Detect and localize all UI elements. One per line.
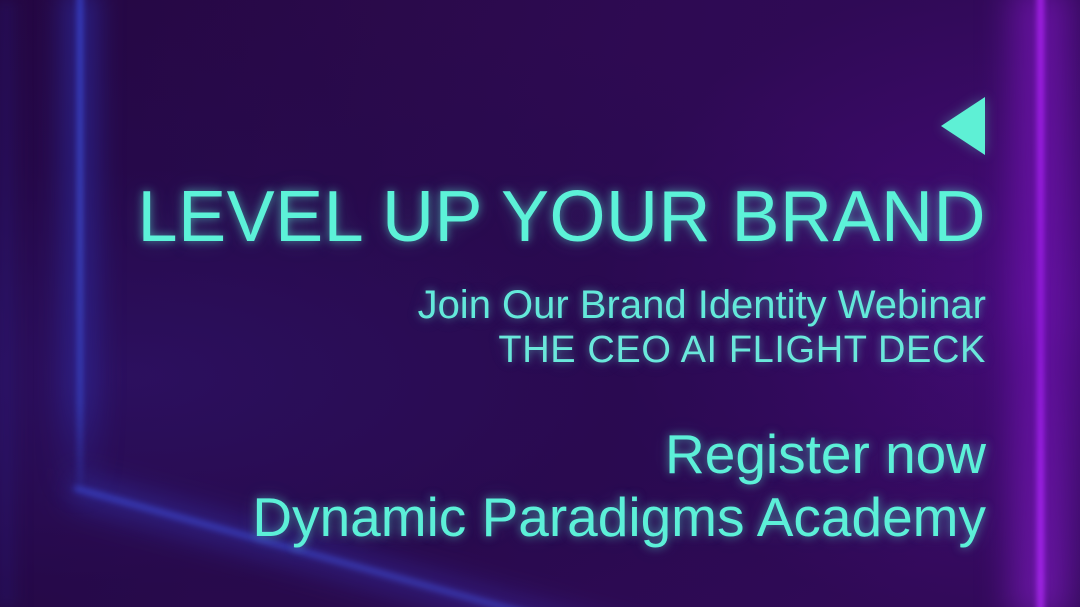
poster-content: LEVEL UP YOUR BRAND Join Our Brand Ident… [0,0,1080,607]
page-title: LEVEL UP YOUR BRAND [0,181,986,253]
brand-name-label: Dynamic Paradigms Academy [0,485,986,549]
play-triangle-left-icon[interactable] [941,97,985,155]
register-now-cta[interactable]: Register now [0,423,986,485]
subheading-line-2: THE CEO AI FLIGHT DECK [0,327,986,373]
subheading-line-1: Join Our Brand Identity Webinar [0,283,986,327]
call-to-action-block: Register now Dynamic Paradigms Academy [0,423,986,549]
promo-poster: LEVEL UP YOUR BRAND Join Our Brand Ident… [0,0,1080,607]
subheading-block: Join Our Brand Identity Webinar THE CEO … [0,283,986,373]
